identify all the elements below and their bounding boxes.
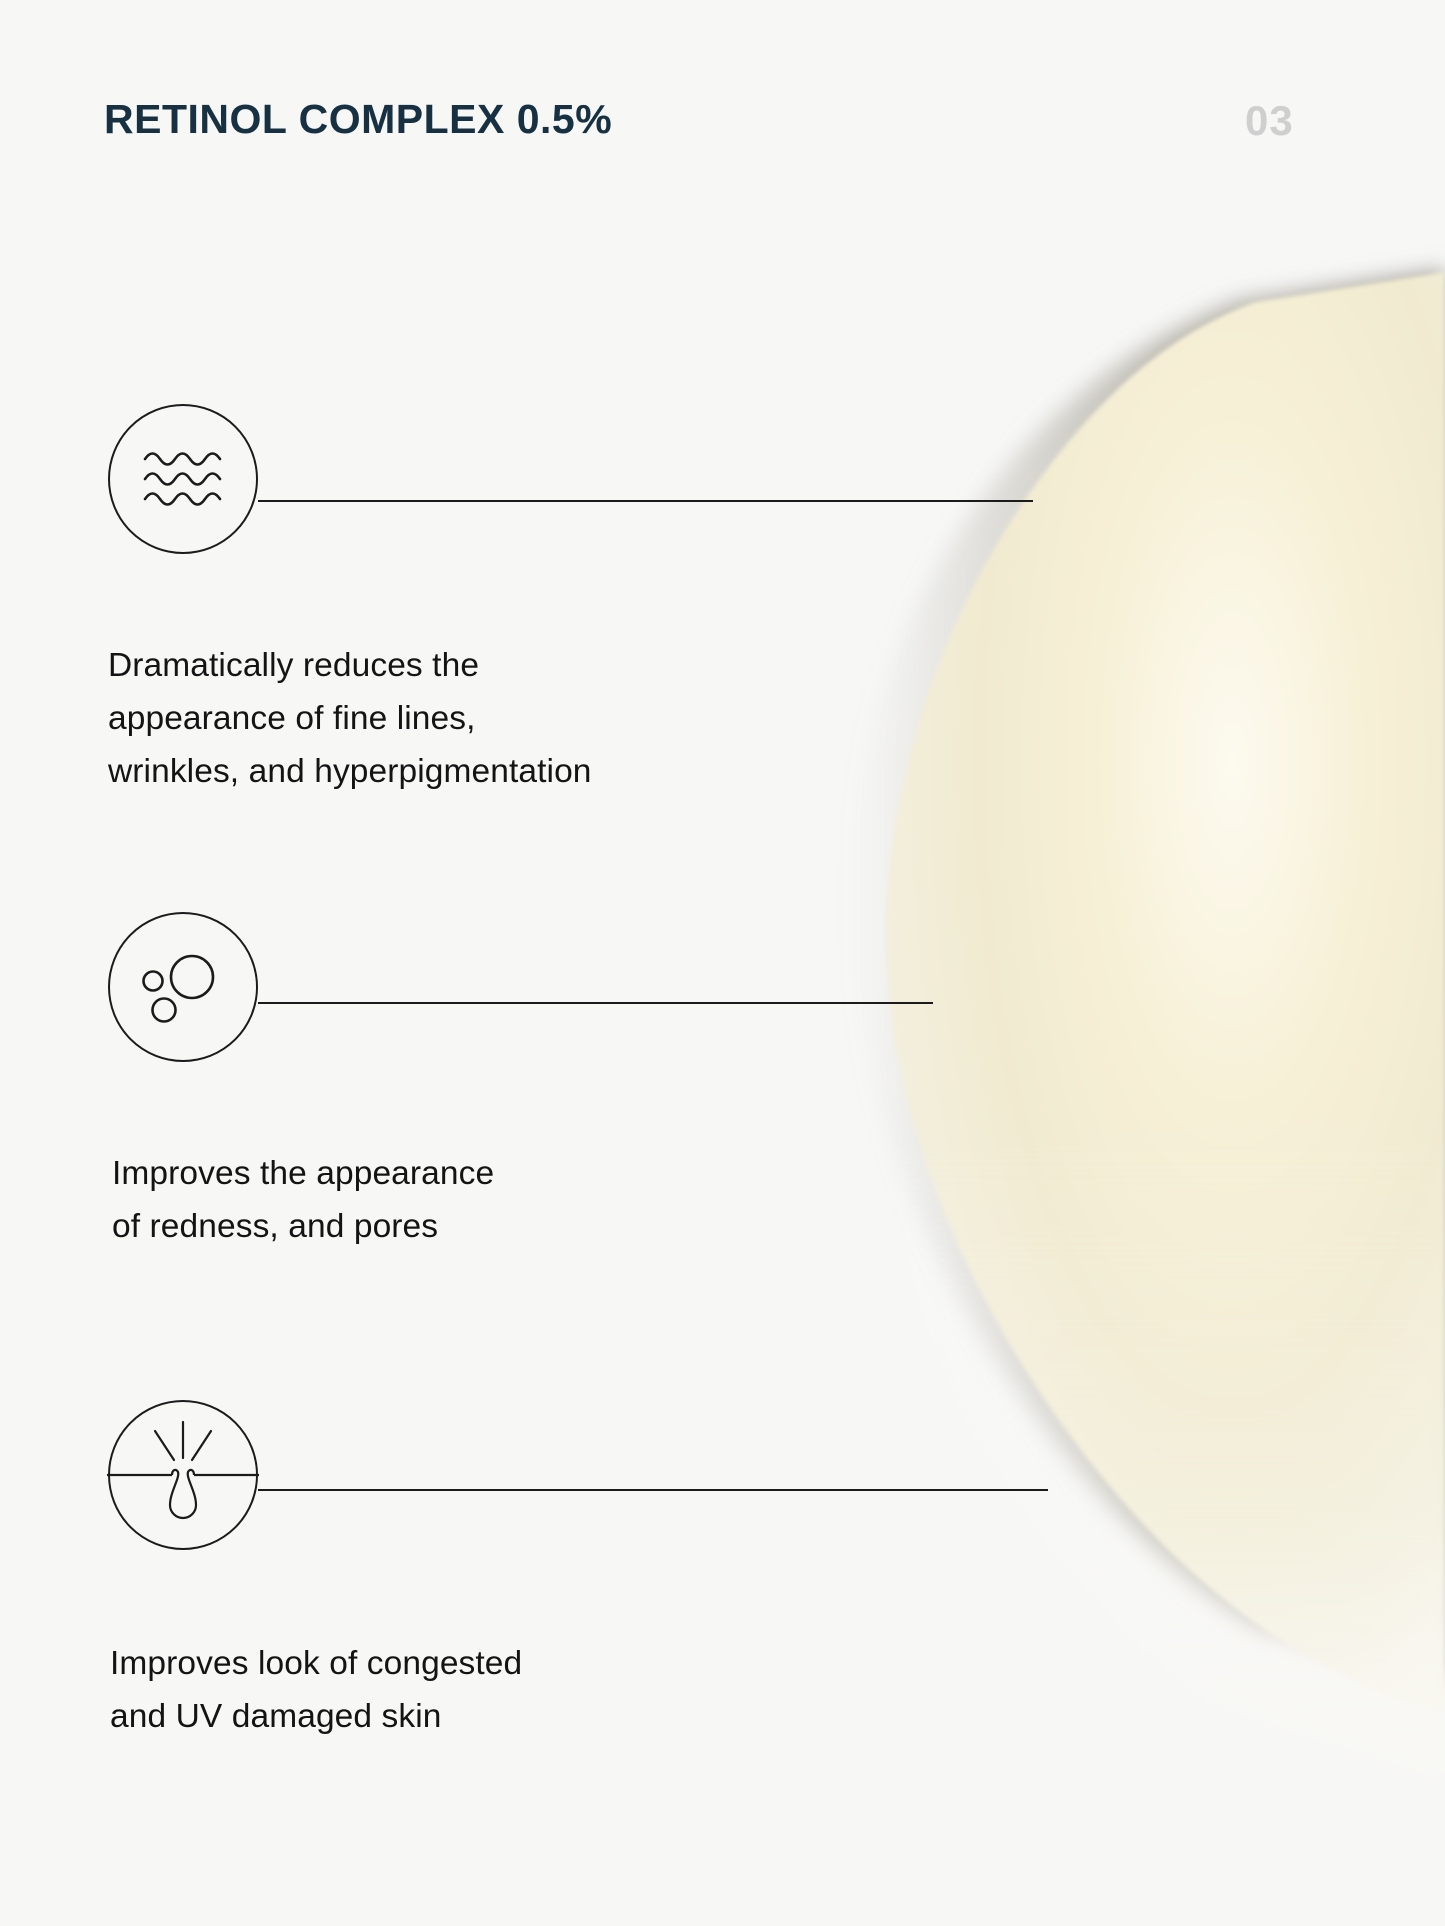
follicle-burst-icon [108, 1400, 258, 1550]
page-title: RETINOL COMPLEX 0.5% [104, 96, 612, 143]
page-number: 03 [1245, 97, 1294, 145]
feature-description-3: Improves look of congested and UV damage… [110, 1637, 522, 1743]
connector-line-2 [258, 1002, 933, 1004]
connector-line-1 [258, 500, 1033, 502]
feature-icon-circle-3 [108, 1400, 258, 1550]
connector-line-3 [258, 1489, 1048, 1491]
pores-circles-icon [135, 942, 231, 1032]
feature-description-2: Improves the appearance of redness, and … [112, 1147, 494, 1253]
feature-icon-circle-1 [108, 404, 258, 554]
feature-icon-circle-2 [108, 912, 258, 1062]
infographic-page: RETINOL COMPLEX 0.5% 03 Dramatically red… [0, 0, 1445, 1926]
feature-description-1: Dramatically reduces the appearance of f… [108, 639, 592, 798]
wavy-lines-icon [137, 443, 229, 515]
